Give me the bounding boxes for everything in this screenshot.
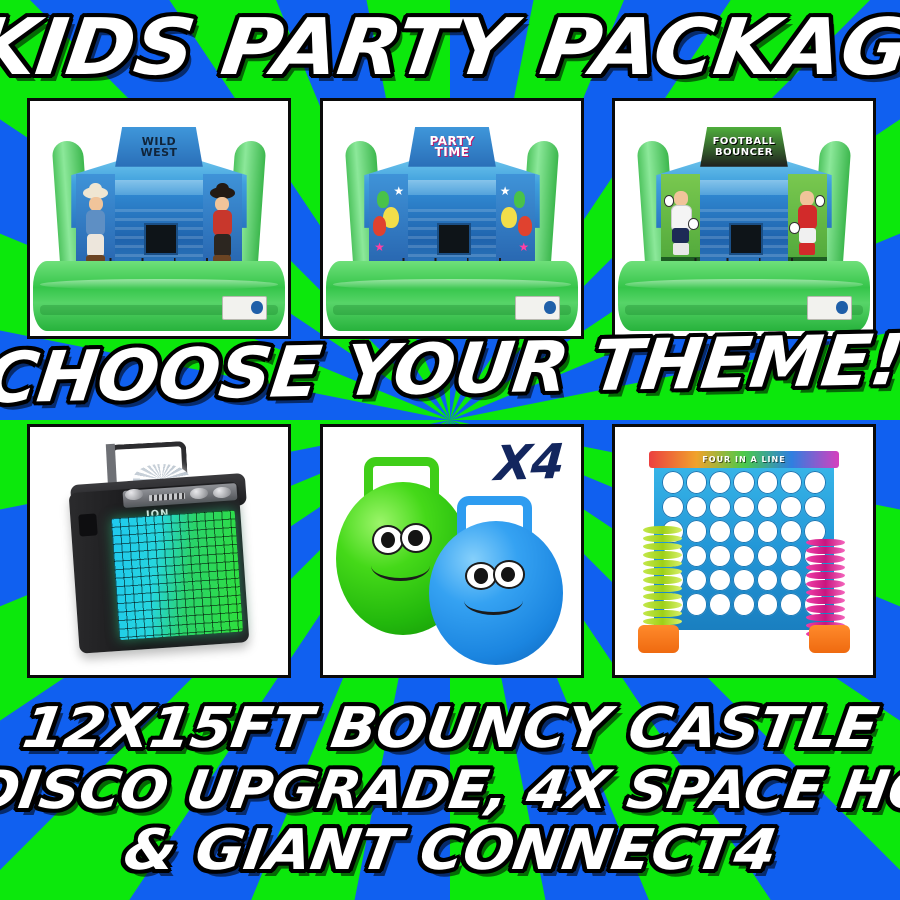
- football-icon: [815, 195, 826, 207]
- castle-panel-left: [76, 174, 115, 270]
- connect4-hole: [686, 471, 708, 493]
- castle-panel-left: [661, 174, 700, 270]
- castle-card-party-time[interactable]: ★ ★ ★ ★ PARTYTIME: [320, 98, 584, 339]
- castle-compliance-tag: [222, 296, 268, 319]
- connect4-disc: [643, 576, 682, 583]
- connect4-disc: [643, 526, 682, 533]
- connect4-leg-left: [638, 625, 679, 652]
- connect4-hole: [662, 471, 684, 493]
- connect4-hole: [709, 496, 731, 518]
- connect4-hole: [757, 569, 779, 591]
- castle-panel-right: ★ ★: [496, 174, 535, 270]
- castle-banner-text: PARTYTIME: [429, 136, 474, 158]
- castle-panel-left: ★ ★: [369, 174, 408, 270]
- connect4-hole: [709, 593, 731, 615]
- castle-panel-right: [203, 174, 242, 270]
- castle-card-football[interactable]: FOOTBALLBOUNCER: [612, 98, 876, 339]
- connect4-disc: [643, 585, 682, 592]
- connect4-hole: [709, 545, 731, 567]
- page-title: KIDS PARTY PACKAGE #2: [0, 6, 900, 90]
- balloon-red-icon: [373, 216, 387, 235]
- connect4-header-banner: FOUR IN A LINE: [649, 451, 840, 468]
- connect4-hole: [757, 593, 779, 615]
- connect4-disc-stack-magenta: [806, 539, 845, 638]
- connect4-grid: [660, 469, 828, 618]
- cowboy-vest: [213, 210, 232, 235]
- castle-compliance-tag: [515, 296, 561, 319]
- connect4-banner-text: FOUR IN A LINE: [702, 455, 785, 464]
- connect4-hole: [686, 593, 708, 615]
- connect4-hole: [709, 520, 731, 542]
- player-shorts-white: [799, 228, 816, 243]
- cowboy-face: [89, 197, 103, 211]
- connect4-hole: [780, 520, 802, 542]
- hopper-smile: [371, 551, 430, 582]
- connect4-disc-stack-yellow: [643, 526, 682, 625]
- cowboy-chaps: [87, 234, 104, 257]
- castle-banner-football: FOOTBALLBOUNCER: [700, 127, 788, 167]
- connect4-hole: [709, 471, 731, 493]
- castle-banner-wild-west: WILDWEST: [115, 127, 203, 167]
- star-white-icon: ★: [500, 185, 511, 197]
- hopper-smile: [464, 586, 523, 615]
- connect4-disc: [643, 535, 682, 542]
- connect4-hole: [733, 593, 755, 615]
- connect4-hole: [804, 496, 826, 518]
- connect4-disc: [643, 568, 682, 575]
- connect4-disc: [643, 610, 682, 617]
- player-face: [674, 191, 688, 205]
- connect4-hole: [780, 593, 802, 615]
- castle-compliance-tag: [807, 296, 853, 319]
- cowboy-trousers: [214, 234, 231, 257]
- balloon-green-icon: [514, 191, 526, 207]
- connect4-hole: [733, 545, 755, 567]
- connect4-hole: [733, 520, 755, 542]
- connect4-disc: [643, 543, 682, 550]
- extra-card-space-hoppers[interactable]: X4: [320, 424, 584, 678]
- castle-banner-text: FOOTBALLBOUNCER: [713, 136, 776, 158]
- connect4-hole: [733, 471, 755, 493]
- extra-card-disco-speaker[interactable]: ION: [27, 424, 291, 678]
- connect4-hole: [804, 471, 826, 493]
- star-pink-icon: ★: [518, 241, 529, 253]
- connect4-disc: [806, 614, 845, 621]
- connect4-disc: [643, 601, 682, 608]
- castle-panel-right: [788, 174, 827, 270]
- choose-theme-headline: CHOOSE YOUR THEME!!: [0, 321, 900, 418]
- connect4-hole: [757, 520, 779, 542]
- extra-card-giant-connect4[interactable]: FOUR IN A LINE: [612, 424, 876, 678]
- castle-photo-football: FOOTBALLBOUNCER: [615, 101, 873, 336]
- player-socks: [799, 243, 815, 255]
- space-hopper-blue: [429, 521, 563, 665]
- disco-speaker-photo: ION: [30, 427, 288, 675]
- hopper-eye: [400, 523, 432, 553]
- football-icon: [688, 218, 699, 230]
- cowboy-shirt: [86, 210, 105, 235]
- star-pink-icon: ★: [374, 241, 385, 253]
- quantity-badge-x4: X4: [493, 438, 565, 488]
- castle-window: [729, 223, 764, 255]
- connect4-disc: [806, 564, 845, 571]
- football-icon: [789, 222, 800, 234]
- connect4-hole: [757, 496, 779, 518]
- connect4-disc: [806, 589, 845, 596]
- hopper-pupil: [381, 532, 395, 548]
- player-shorts-navy: [672, 228, 689, 243]
- footer-line-2: DISCO UPGRADE, 4X SPACE HOPPERS: [0, 762, 900, 820]
- cowboy-face: [215, 197, 229, 211]
- connect4-disc: [643, 618, 682, 625]
- connect4-hole: [757, 471, 779, 493]
- castle-banner-text: WILDWEST: [140, 136, 177, 158]
- connect4-disc: [643, 593, 682, 600]
- connect4-disc: [806, 555, 845, 562]
- connect4-disc: [806, 580, 845, 587]
- connect4-disc: [806, 597, 845, 604]
- castle-photo-wild-west: WILDWEST: [30, 101, 288, 336]
- connect4-disc: [806, 605, 845, 612]
- connect4-hole: [733, 496, 755, 518]
- castle-window: [144, 223, 179, 255]
- balloon-yellow-icon: [501, 207, 516, 228]
- speaker-led-grid: [111, 510, 243, 640]
- speaker-side-grip: [78, 513, 98, 537]
- balloon-red-icon: [518, 216, 532, 235]
- space-hoppers-photo: X4: [323, 427, 581, 675]
- player-socks: [673, 243, 689, 255]
- footer-line-1: 12X15FT BOUNCY CASTLE: [0, 700, 900, 758]
- castle-window: [437, 223, 472, 255]
- connect4-hole: [662, 496, 684, 518]
- connect4-leg-right: [809, 625, 850, 652]
- connect4-disc: [806, 539, 845, 546]
- connect4-disc: [806, 547, 845, 554]
- connect4-hole: [686, 496, 708, 518]
- castle-photo-party-time: ★ ★ ★ ★ PARTYTIME: [323, 101, 581, 336]
- balloon-green-icon: [377, 191, 389, 207]
- connect4-disc: [806, 572, 845, 579]
- connect4-hole: [757, 545, 779, 567]
- connect4-disc: [643, 560, 682, 567]
- player-shirt-red: [798, 205, 817, 230]
- castle-card-wild-west[interactable]: WILDWEST: [27, 98, 291, 339]
- connect4-hole: [709, 569, 731, 591]
- connect4-hole: [733, 569, 755, 591]
- connect4-hole: [780, 471, 802, 493]
- castle-banner-party-time: PARTYTIME: [408, 127, 496, 167]
- hopper-pupil: [408, 530, 422, 546]
- player-face: [800, 191, 814, 205]
- cowboy-hat-crown-icon: [89, 183, 102, 195]
- connect4-hole: [686, 569, 708, 591]
- giant-connect4-photo: FOUR IN A LINE: [615, 427, 873, 675]
- connect4-hole: [686, 545, 708, 567]
- star-white-icon: ★: [393, 185, 404, 197]
- poster-canvas: KIDS PARTY PACKAGE #2: [0, 0, 900, 900]
- cowboy-hat-crown-dark-icon: [216, 183, 229, 195]
- connect4-hole: [686, 520, 708, 542]
- footer-line-3: & GIANT CONNECT4: [0, 822, 900, 880]
- connect4-disc: [643, 551, 682, 558]
- football-icon: [664, 195, 675, 207]
- connect4-hole: [780, 569, 802, 591]
- connect4-hole: [780, 496, 802, 518]
- connect4-hole: [780, 545, 802, 567]
- hopper-eye: [493, 560, 525, 588]
- hopper-pupil: [474, 568, 488, 583]
- hopper-pupil: [501, 567, 515, 582]
